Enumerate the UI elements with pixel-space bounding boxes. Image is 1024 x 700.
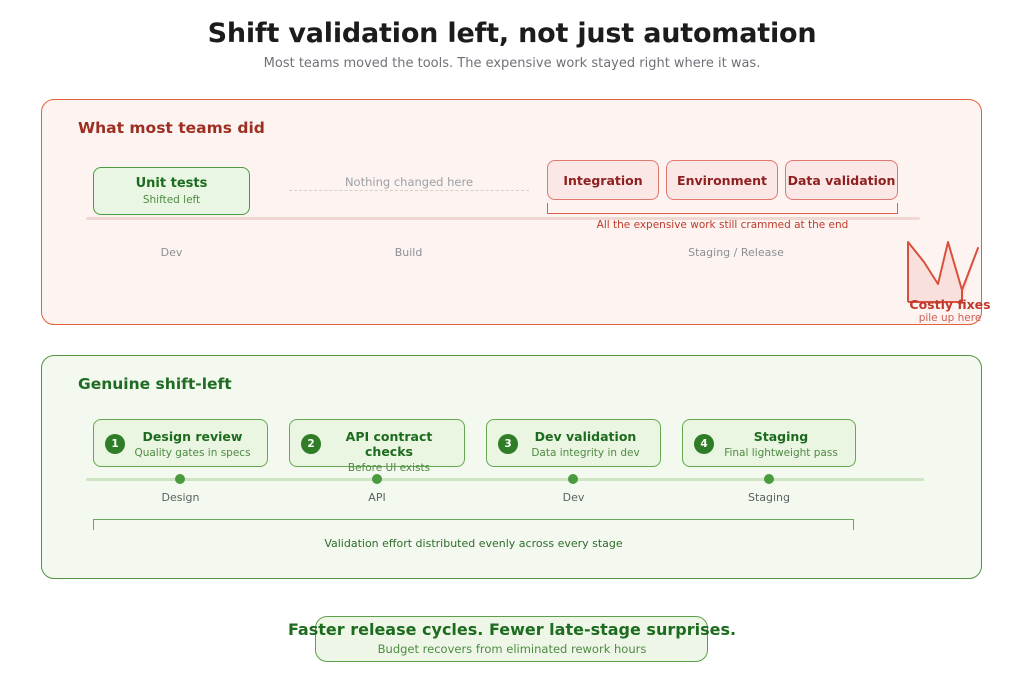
card-dev-validation-subtitle: Data integrity in dev (517, 447, 654, 459)
good-timeline-track (86, 478, 924, 481)
footer-headline: Faster release cycles. Fewer late-stage … (162, 620, 862, 639)
good-panel-heading: Genuine shift-left (78, 375, 232, 393)
good-stage-label-design: Design (93, 491, 268, 504)
distributed-bracket (93, 519, 854, 530)
card-unit-tests-subtitle: Shifted left (143, 194, 200, 206)
good-stage-label-staging: Staging (682, 491, 856, 504)
page-title: Shift validation left, not just automati… (0, 18, 1024, 49)
card-environment-label: Environment (677, 173, 767, 188)
card-unit-tests[interactable]: Unit tests Shifted left (93, 167, 250, 215)
crammed-bracket (547, 203, 898, 214)
panel-what-most-teams-did: What most teams did Unit tests Shifted l… (41, 99, 982, 325)
card-data-validation-label: Data validation (788, 173, 896, 188)
card-integration[interactable]: Integration (547, 160, 659, 200)
card-design-review-subtitle: Quality gates in specs (124, 447, 261, 459)
gap-label: Nothing changed here (289, 175, 529, 189)
costly-fixes-title: Costly fixes (872, 297, 1024, 312)
card-staging[interactable]: 4 Staging Final lightweight pass (682, 419, 856, 467)
card-api-contract-checks-title: API contract checks (320, 429, 458, 459)
crammed-bracket-caption: All the expensive work still crammed at … (547, 219, 898, 231)
distributed-bracket-caption: Validation effort distributed evenly acr… (93, 537, 854, 550)
card-staging-title: Staging (713, 429, 849, 444)
step-number-badge: 4 (694, 434, 714, 454)
bad-panel-heading: What most teams did (78, 119, 265, 137)
panel-genuine-shift-left: Genuine shift-left 1 Design review Quali… (41, 355, 982, 579)
timeline-dot-staging (764, 474, 774, 484)
good-stage-label-api: API (289, 491, 465, 504)
step-number-badge: 2 (301, 434, 321, 454)
bad-timeline-track (86, 217, 920, 220)
card-dev-validation[interactable]: 3 Dev validation Data integrity in dev (486, 419, 661, 467)
card-data-validation[interactable]: Data validation (785, 160, 898, 200)
card-environment[interactable]: Environment (666, 160, 778, 200)
bad-stage-label-staging-release: Staging / Release (636, 246, 836, 259)
card-staging-subtitle: Final lightweight pass (713, 447, 849, 459)
card-unit-tests-title: Unit tests (136, 176, 208, 191)
timeline-dot-api (372, 474, 382, 484)
card-dev-validation-title: Dev validation (517, 429, 654, 444)
card-api-contract-checks[interactable]: 2 API contract checks Before UI exists (289, 419, 465, 467)
good-stage-label-dev: Dev (486, 491, 661, 504)
card-integration-label: Integration (563, 173, 642, 188)
footer-subtext: Budget recovers from eliminated rework h… (162, 642, 862, 656)
card-api-contract-checks-subtitle: Before UI exists (320, 462, 458, 474)
step-number-badge: 1 (105, 434, 125, 454)
step-number-badge: 3 (498, 434, 518, 454)
timeline-dot-design (175, 474, 185, 484)
bad-stage-label-dev: Dev (93, 246, 250, 259)
page-subtitle: Most teams moved the tools. The expensiv… (0, 56, 1024, 71)
gap-dashed-line (289, 190, 529, 191)
timeline-dot-dev (568, 474, 578, 484)
card-design-review-title: Design review (124, 429, 261, 444)
infographic-page: Shift validation left, not just automati… (0, 0, 1024, 700)
bad-stage-label-build: Build (330, 246, 487, 259)
costly-fixes-subtitle: pile up here (872, 312, 1024, 324)
card-design-review[interactable]: 1 Design review Quality gates in specs (93, 419, 268, 467)
